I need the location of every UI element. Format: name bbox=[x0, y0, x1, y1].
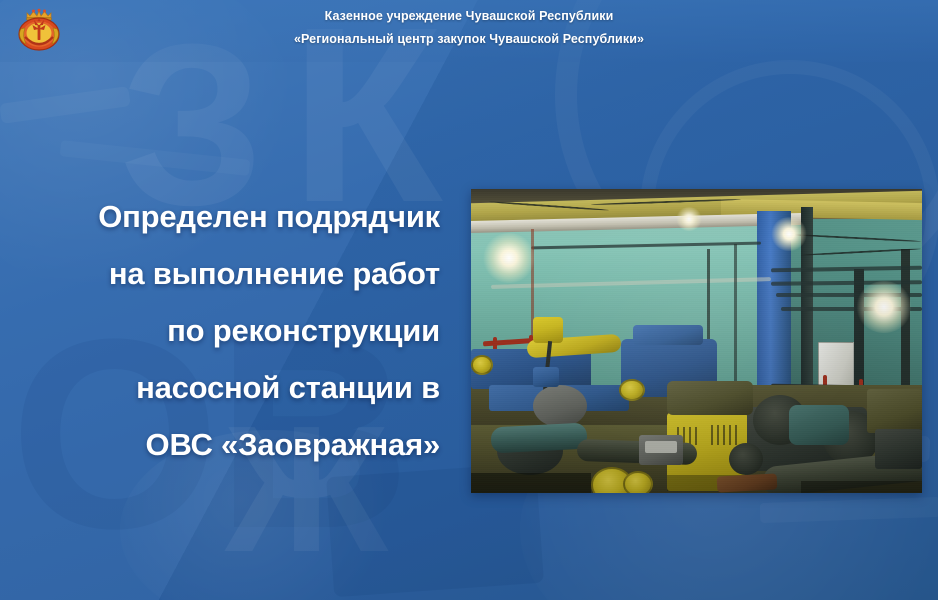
photo-yellow-actuator-head bbox=[533, 317, 563, 343]
title-line-1: Определен подрядчик bbox=[8, 188, 440, 245]
background-watermark-bar-2 bbox=[60, 140, 251, 176]
background-watermark-bar-5 bbox=[760, 497, 938, 523]
photo-motor-teal bbox=[789, 405, 849, 445]
photo-lamp-4 bbox=[676, 207, 702, 231]
photo-crate-right-1 bbox=[867, 389, 922, 433]
photo-pipe-teal-left bbox=[490, 423, 587, 454]
photo-generator-vents-2 bbox=[711, 425, 741, 445]
photo-content bbox=[471, 189, 922, 493]
photo-foreground-dark-2 bbox=[801, 481, 922, 493]
photo-valve-wheel-2 bbox=[623, 471, 653, 493]
photo-control-box-face bbox=[645, 441, 677, 453]
page-title: Определен подрядчик на выполнение работ … bbox=[8, 188, 440, 473]
photo-pillar-dark-2 bbox=[854, 269, 864, 389]
header-bar: Казенное учреждение Чувашской Республики… bbox=[0, 0, 938, 62]
photo-valve-wheel-3 bbox=[471, 355, 493, 375]
photo-foreground-dark-1 bbox=[471, 473, 591, 493]
photo-pump-flange-3 bbox=[729, 443, 763, 475]
header-organization-text: Казенное учреждение Чувашской Республики… bbox=[0, 6, 938, 49]
photo-machine-blue-center-top bbox=[633, 325, 703, 345]
photo-motor-olive bbox=[667, 381, 753, 415]
photo-sphere-valve-1 bbox=[533, 385, 587, 427]
coat-of-arms-chuvash-republic-icon bbox=[14, 7, 64, 54]
photo-rust-part bbox=[717, 473, 778, 492]
title-line-4: насосной станции в bbox=[8, 359, 440, 416]
photo-box-blue-small bbox=[533, 367, 559, 387]
pump-station-photo bbox=[471, 189, 922, 493]
photo-lamp-2 bbox=[771, 217, 807, 251]
header-line-2: «Региональный центр закупок Чувашской Ре… bbox=[0, 29, 938, 49]
photo-lamp-1 bbox=[483, 233, 535, 283]
photo-lamp-3 bbox=[856, 281, 912, 333]
photo-crate-right-2 bbox=[875, 429, 922, 469]
header-line-1: Казенное учреждение Чувашской Республики bbox=[0, 6, 938, 26]
title-line-3: по реконструкции bbox=[8, 302, 440, 359]
photo-conduit-2 bbox=[734, 244, 737, 389]
slide-root: З К ОВ Ж bbox=[0, 0, 938, 600]
title-line-2: на выполнение работ bbox=[8, 245, 440, 302]
background-watermark-bar-1 bbox=[0, 86, 131, 124]
title-line-5: ОВС «Заовражная» bbox=[8, 416, 440, 473]
photo-valve-wheel-4 bbox=[619, 379, 645, 401]
